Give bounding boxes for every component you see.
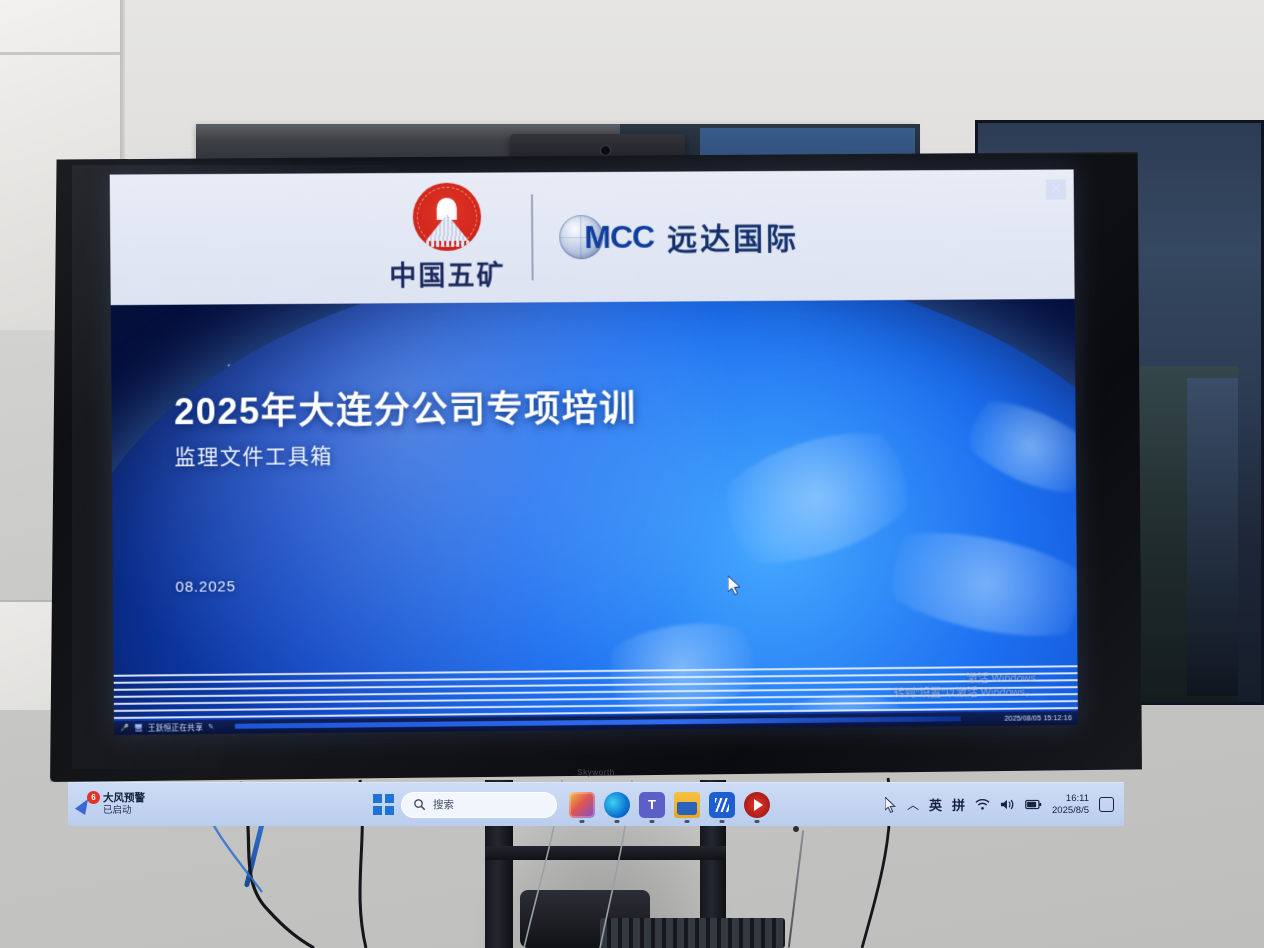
- slide-date: 08.2025: [175, 578, 235, 596]
- share-progress-line: [235, 716, 961, 729]
- pencil-icon: ✎: [208, 723, 214, 731]
- logo-group: 中国五矿 MCC 远达国际: [389, 181, 800, 293]
- edge-icon[interactable]: [604, 792, 630, 818]
- logo-divider: [531, 194, 534, 280]
- search-input[interactable]: 搜索: [401, 792, 557, 818]
- wifi-icon[interactable]: [975, 798, 990, 811]
- share-status-text: 王跃恒正在共享: [148, 722, 203, 734]
- wind-warning-icon: 6: [76, 794, 98, 816]
- weather-subtitle: 已启动: [103, 805, 145, 817]
- volume-icon[interactable]: [1000, 798, 1015, 811]
- close-icon[interactable]: ✕: [1046, 179, 1066, 199]
- tv-screen[interactable]: 中国五矿 MCC 远达国际: [110, 169, 1078, 735]
- clock-date: 2025/8/5: [1052, 805, 1089, 817]
- widgets-icon[interactable]: [569, 792, 595, 818]
- slide-body: 2025年大连分公司专项培训 监理文件工具箱 08.2025 激活 Window…: [111, 299, 1078, 735]
- wall-mounted-tv: Skyworth 中国五矿: [50, 152, 1142, 782]
- watermark-line-2: 转到"设置"以激活 Windows。: [894, 686, 1037, 701]
- slide-logo-header: 中国五矿 MCC 远达国际: [110, 169, 1075, 305]
- weather-text-group: 大风预警 已启动: [103, 792, 145, 817]
- landmass: [944, 382, 1078, 510]
- chevron-up-icon[interactable]: ︿: [907, 796, 919, 813]
- clock-time: 16:11: [1052, 793, 1089, 805]
- battery-icon[interactable]: [1025, 799, 1042, 810]
- share-timestamp: 2025/08/05 15:12:16: [1004, 715, 1072, 723]
- emblem-base: [421, 241, 473, 247]
- file-explorer-icon[interactable]: [674, 792, 700, 818]
- notification-icon[interactable]: [1099, 797, 1114, 812]
- mouse-cursor-icon: [728, 576, 742, 596]
- mcc-name: 远达国际: [667, 214, 799, 259]
- watermark-line-1: 激活 Windows: [893, 672, 1036, 687]
- taskbar-app-icons: T: [569, 792, 770, 818]
- taskbar-center-group: 搜索 T: [373, 792, 770, 818]
- poster-tower: [1187, 378, 1238, 696]
- notification-badge: 6: [87, 791, 100, 804]
- system-tray: ︿ 英 拼 16: [885, 793, 1124, 817]
- mouse-cursor-icon: [885, 797, 897, 813]
- ime-mode-indicator[interactable]: 拼: [952, 795, 965, 814]
- mcc-mark: MCC: [584, 218, 654, 255]
- mcc-text-group: MCC 远达国际: [584, 214, 799, 259]
- mcc-logo: MCC 远达国际: [559, 214, 799, 259]
- windows-activation-watermark: 激活 Windows 转到"设置"以激活 Windows。: [893, 672, 1036, 701]
- taskbar-weather-widget[interactable]: 6 大风预警 已启动: [68, 792, 258, 817]
- weather-title: 大风预警: [103, 792, 145, 805]
- minmetals-logo: 中国五矿: [389, 182, 506, 293]
- microphone-icon: 🎤: [120, 724, 129, 732]
- minmetals-name: 中国五矿: [389, 254, 506, 294]
- media-player-icon[interactable]: [744, 792, 770, 818]
- slide-subtitle: 监理文件工具箱: [174, 440, 333, 471]
- screen-share-icon: 🖥: [134, 724, 143, 732]
- landmass: [856, 514, 1078, 653]
- teams-icon[interactable]: T: [639, 792, 665, 818]
- minmetals-emblem-icon: [413, 183, 482, 251]
- wps-icon[interactable]: [709, 792, 735, 818]
- windows-taskbar: 6 大风预警 已启动 搜索: [68, 782, 1124, 826]
- conference-room-scene: Bose Skyworth 中国五矿: [0, 0, 1264, 948]
- search-icon: [413, 798, 426, 811]
- taskbar-clock[interactable]: 16:11 2025/8/5: [1052, 793, 1089, 817]
- search-placeholder: 搜索: [433, 797, 454, 812]
- slide-title: 2025年大连分公司专项培训: [174, 380, 637, 436]
- windows-start-icon[interactable]: [373, 794, 394, 815]
- ime-language-indicator[interactable]: 英: [929, 795, 942, 814]
